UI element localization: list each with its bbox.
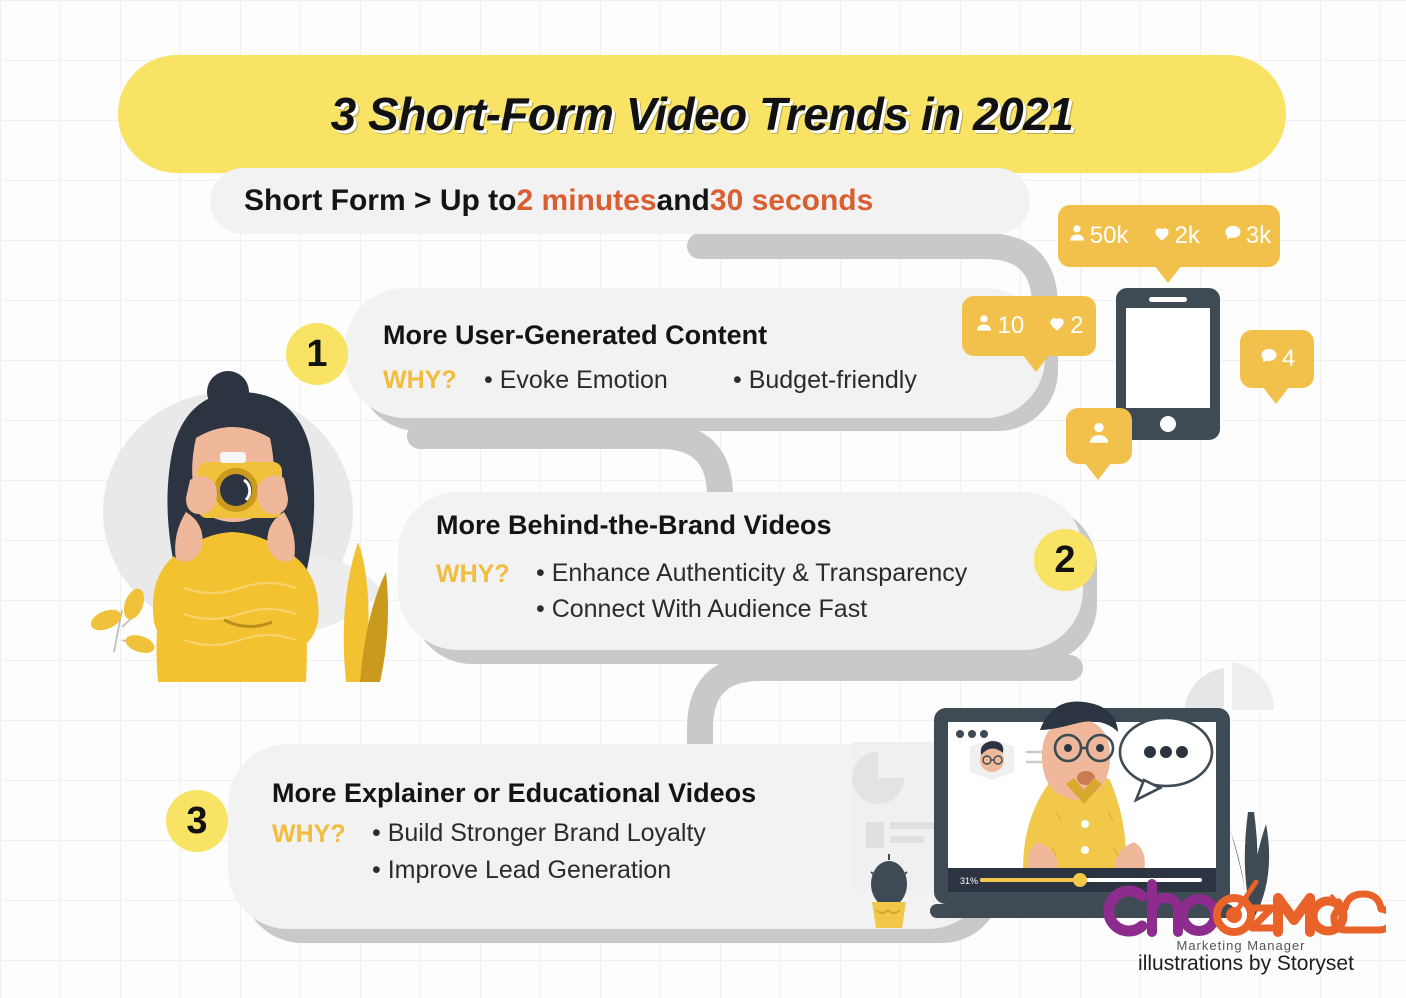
title-banner: 3 Short-Form Video Trends in 2021 — [118, 55, 1286, 173]
social-stats-badge-top: 50k 2k 3k — [1058, 205, 1280, 267]
woman-with-camera-illustration — [78, 352, 418, 682]
person-icon — [1067, 222, 1087, 250]
subtitle-value-seconds: 30 seconds — [710, 184, 873, 218]
subtitle-lead: Short Form > Up to — [244, 184, 517, 218]
section-3-reason-1: • Build Stronger Brand Loyalty — [372, 819, 706, 848]
phone-home-button — [1160, 416, 1176, 432]
choozmo-logo-mark — [1096, 878, 1386, 940]
person-icon — [974, 312, 994, 340]
social-stat-likes: 2k — [1175, 222, 1200, 250]
social-stat-likes: 2 — [1070, 312, 1083, 340]
badge-tail — [1262, 386, 1290, 404]
section-3-heading: More Explainer or Educational Videos — [272, 778, 756, 809]
section-1-why-label: WHY? — [383, 366, 457, 395]
infographic-canvas: 3 Short-Form Video Trends in 2021 Short … — [0, 0, 1406, 998]
section-1-panel — [345, 288, 1045, 418]
social-stat-comments: 4 — [1282, 345, 1295, 373]
person-icon — [1086, 420, 1112, 453]
section-2-reason-1: • Enhance Authenticity & Transparency — [536, 559, 967, 588]
subtitle-conjunction: and — [657, 184, 710, 218]
section-2-number-badge: 2 — [1034, 529, 1096, 591]
social-stat-comments: 3k — [1246, 222, 1271, 250]
section-1-reason-2: • Budget-friendly — [733, 366, 917, 395]
social-stats-badge-right: 4 — [1240, 330, 1314, 388]
section-2-heading: More Behind-the-Brand Videos — [436, 510, 832, 541]
svg-text:31%: 31% — [960, 876, 978, 886]
phone-speaker — [1149, 297, 1187, 302]
section-2-reason-2: • Connect With Audience Fast — [536, 595, 867, 624]
section-3-number-badge: 3 — [166, 790, 228, 852]
logo-tagline: Marketing Manager — [1096, 938, 1386, 953]
section-2-why-label: WHY? — [436, 560, 510, 589]
heart-icon — [1047, 312, 1067, 340]
section-1-reason-1: • Evoke Emotion — [484, 366, 668, 395]
badge-tail — [1022, 354, 1050, 372]
section-3-why-label: WHY? — [272, 820, 346, 849]
section-3-reason-2: • Improve Lead Generation — [372, 856, 671, 885]
subtitle-text: Short Form > Up to 2 minutes and 30 seco… — [210, 168, 1030, 234]
badge-tail — [1084, 462, 1112, 480]
section-1-number-badge: 1 — [286, 323, 348, 385]
social-stats-badge-left: 10 2 — [962, 296, 1096, 356]
subtitle-value-minutes: 2 minutes — [517, 184, 657, 218]
comment-icon — [1223, 222, 1243, 250]
comment-icon — [1259, 345, 1279, 373]
heart-icon — [1152, 222, 1172, 250]
phone-screen — [1126, 308, 1210, 408]
social-stat-followers: 10 — [997, 312, 1024, 340]
section-1-heading: More User-Generated Content — [383, 320, 767, 351]
social-stats-badge-bottom — [1066, 408, 1132, 464]
badge-tail — [1154, 265, 1182, 283]
social-stat-followers: 50k — [1090, 222, 1129, 250]
page-title: 3 Short-Form Video Trends in 2021 — [118, 55, 1286, 173]
illustration-credit: illustrations by Storyset — [1096, 952, 1396, 976]
